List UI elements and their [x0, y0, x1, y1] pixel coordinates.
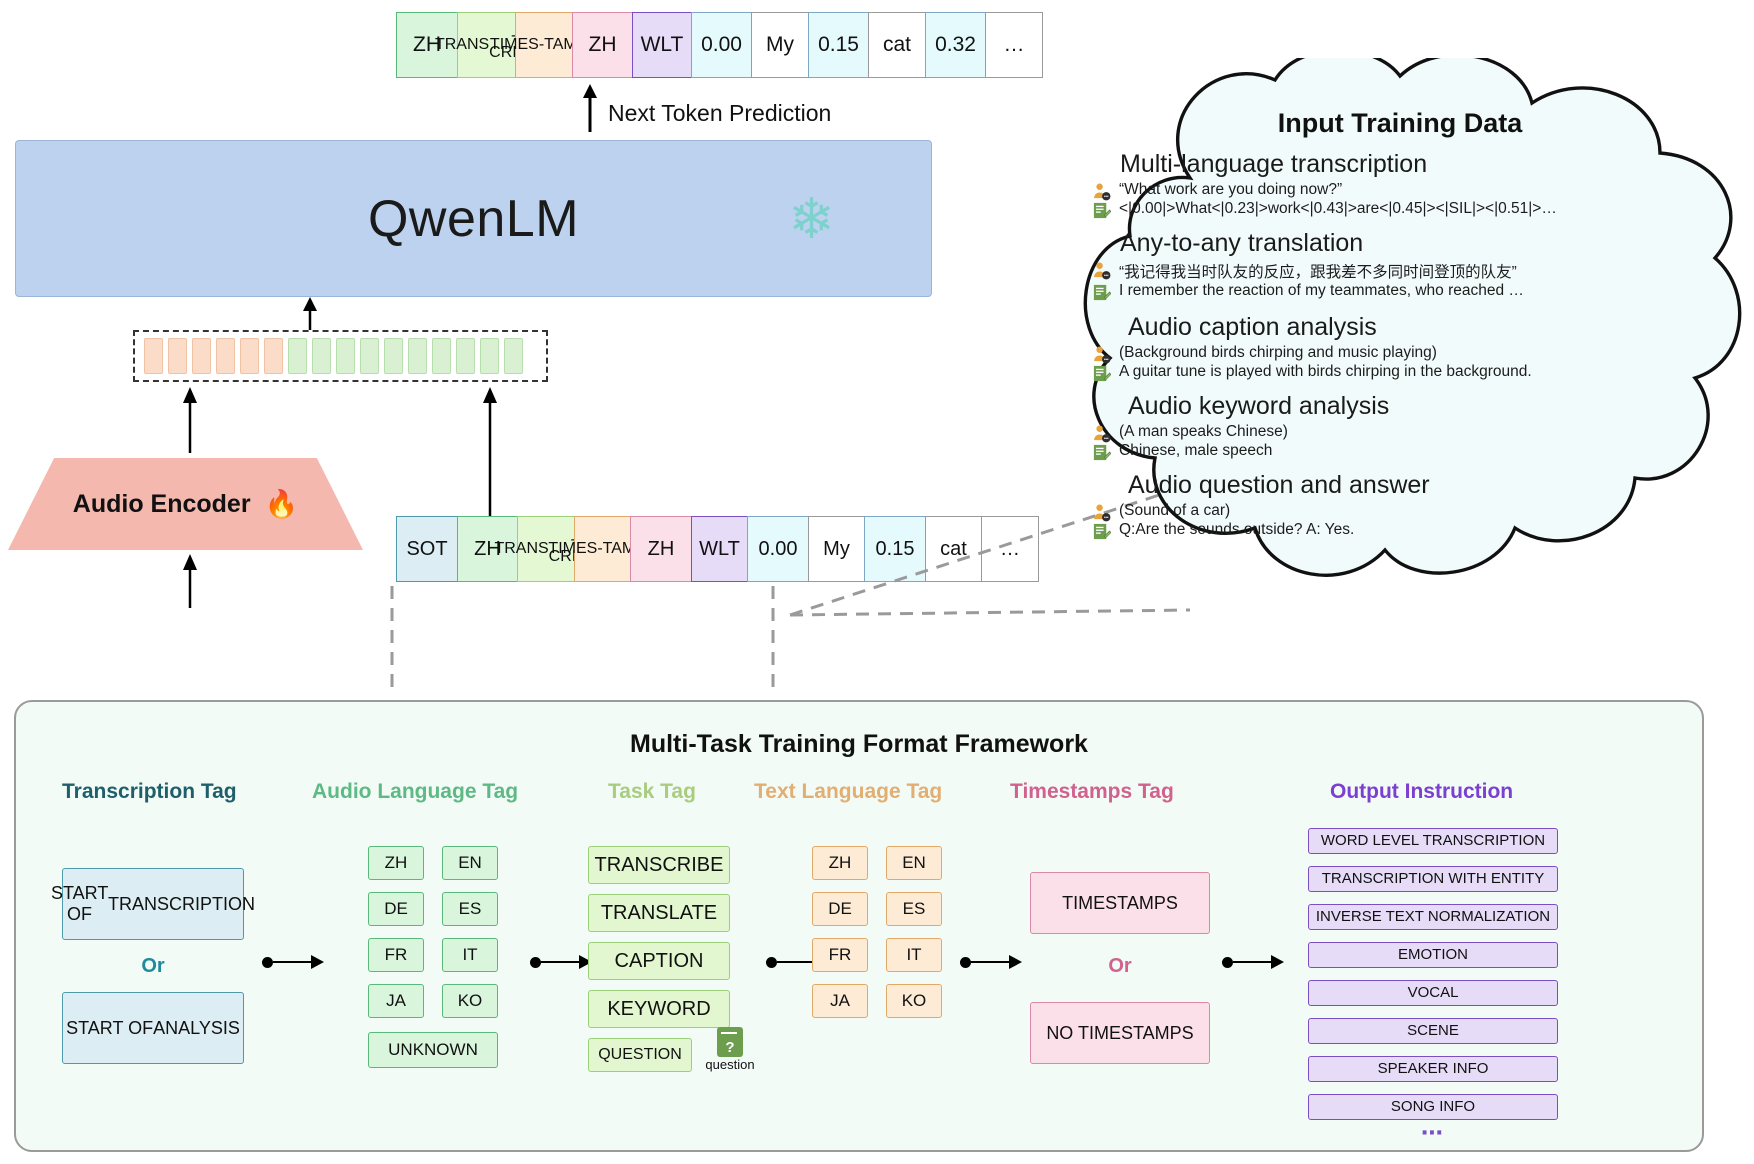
cloud-section: Multi-language transcription“What work a…: [1092, 150, 1652, 219]
note-pencil-icon: [1092, 364, 1111, 383]
note-pencil-icon: [1092, 522, 1111, 541]
cloud-section-output-text: A guitar tune is played with birds chirp…: [1119, 363, 1532, 381]
chip-audio-lang-fr[interactable]: FR: [368, 938, 424, 972]
cloud-section-output-text: I remember the reaction of my teammates,…: [1119, 282, 1524, 300]
chip-text-lang-ja[interactable]: JA: [812, 984, 868, 1018]
chip-start-of-transcription[interactable]: START OFTRANSCRIPTION: [62, 868, 244, 940]
audio-language-grid: ZHENDEESFRITJAKO: [368, 846, 498, 1018]
output-instruction-list: WORD LEVEL TRANSCRIPTIONTRANSCRIPTION WI…: [1308, 828, 1558, 1132]
cloud-section-output: A guitar tune is played with birds chirp…: [1092, 363, 1652, 382]
chip-audio-language-unknown[interactable]: UNKNOWN: [368, 1032, 498, 1068]
embedding-strip: [133, 330, 548, 382]
embedding-cell: [264, 338, 283, 374]
token-cell: SOT: [396, 516, 458, 582]
question-icon-group: question: [700, 1027, 760, 1072]
token-cell: 0.00: [691, 12, 753, 78]
cloud-section-input-text: “我记得我当时队友的反应，跟我差不多同时间登顶的队友”: [1119, 260, 1517, 282]
embedding-cell: [216, 338, 235, 374]
cloud-section-output: Chinese, male speech: [1092, 442, 1652, 461]
output-token-sequence: ZHTRANS-CRIBETIMES-TAMPSZHWLT0.00My0.15c…: [396, 12, 1043, 78]
timestamps-or-label: Or: [1030, 955, 1210, 978]
cloud-section: Any-to-any translation“我记得我当时队友的反应，跟我差不多…: [1092, 229, 1652, 301]
chip-text-lang-zh[interactable]: ZH: [812, 846, 868, 880]
embedding-cell: [384, 338, 403, 374]
user-speech-icon: [1092, 261, 1111, 280]
cloud-sections: Multi-language transcription“What work a…: [1092, 150, 1652, 550]
question-document-icon: [717, 1027, 743, 1057]
column-header-task-tag: Task Tag: [608, 780, 696, 804]
framework-leader-lines: [386, 580, 786, 700]
user-speech-icon: [1092, 345, 1111, 364]
transcription-or-label: Or: [62, 955, 244, 978]
cloud-section-input: (A man speaks Chinese): [1092, 423, 1652, 442]
token-cell: TIMES-TAMPS: [574, 516, 632, 582]
cloud-section-heading: Any-to-any translation: [1092, 229, 1652, 258]
cloud-section-input-text: (Background birds chirping and music pla…: [1119, 344, 1437, 362]
column-header-text-language-tag: Text Language Tag: [754, 780, 942, 804]
column-header-transcription-tag: Transcription Tag: [62, 780, 237, 804]
spectrogram-to-encoder-arrow: [175, 552, 205, 610]
qwenlm-box: QwenLM ❄: [15, 140, 932, 297]
embedding-cell: [432, 338, 451, 374]
cloud-title: Input Training Data: [1180, 108, 1620, 139]
chip-audio-lang-ja[interactable]: JA: [368, 984, 424, 1018]
audio-encoder-label: Audio Encoder: [73, 490, 251, 519]
note-pencil-icon: [1092, 283, 1111, 302]
chip-text-lang-fr[interactable]: FR: [812, 938, 868, 972]
chip-output-song-info[interactable]: SONG INFO: [1308, 1094, 1558, 1120]
embedding-cell: [288, 338, 307, 374]
token-cell: WLT: [632, 12, 692, 78]
cloud-section-output: <|0.00|>What<|0.23|>work<|0.43|>are<|0.4…: [1092, 200, 1652, 219]
chip-task-question[interactable]: QUESTION: [588, 1038, 692, 1072]
embedding-cell: [456, 338, 475, 374]
cloud-section-output-text: <|0.00|>What<|0.23|>work<|0.43|>are<|0.4…: [1119, 200, 1557, 218]
embedding-cell: [336, 338, 355, 374]
question-icon-caption: question: [700, 1057, 760, 1072]
embedding-cell: [480, 338, 499, 374]
cloud-section-heading: Audio question and answer: [1092, 471, 1652, 500]
audio-encoder: Audio Encoder 🔥: [8, 458, 363, 550]
cloud-section: Audio keyword analysis(A man speaks Chin…: [1092, 392, 1652, 461]
snowflake-icon: ❄: [788, 191, 835, 247]
chip-text-lang-en[interactable]: EN: [886, 846, 942, 880]
embedding-cell: [240, 338, 259, 374]
chip-audio-lang-de[interactable]: DE: [368, 892, 424, 926]
chip-audio-lang-en[interactable]: EN: [442, 846, 498, 880]
token-cell: 0.15: [808, 12, 870, 78]
embedding-cell: [312, 338, 331, 374]
cloud-section-input: (Sound of a car): [1092, 502, 1652, 521]
next-token-prediction-arrow: [570, 82, 610, 134]
token-cell: 0.32: [925, 12, 987, 78]
text-language-grid: ZHENDEESFRITJAKO: [812, 846, 942, 1018]
next-token-prediction-label: Next Token Prediction: [608, 100, 831, 127]
chip-no-timestamps[interactable]: NO TIMESTAMPS: [1030, 1002, 1210, 1064]
chip-task-transcribe[interactable]: TRANSCRIBE: [588, 846, 730, 884]
chip-audio-lang-zh[interactable]: ZH: [368, 846, 424, 880]
arrow-transcription-to-audio-language: [262, 955, 324, 969]
arrow-text-language-to-timestamps: [960, 955, 1022, 969]
note-pencil-icon: [1092, 443, 1111, 462]
arrow-audio-language-to-task: [530, 955, 592, 969]
chip-audio-lang-es[interactable]: ES: [442, 892, 498, 926]
chip-start-of-analysis[interactable]: START OFANALYSIS: [62, 992, 244, 1064]
cloud-section-input: (Background birds chirping and music pla…: [1092, 344, 1652, 363]
cloud-section-heading: Audio caption analysis: [1092, 313, 1652, 342]
tokens-to-embedding-arrow: [475, 385, 505, 520]
cloud-section-input: “我记得我当时队友的反应，跟我差不多同时间登顶的队友”: [1092, 260, 1652, 282]
chip-text-lang-ko[interactable]: KO: [886, 984, 942, 1018]
embedding-cell: [168, 338, 187, 374]
cloud-section-input-text: “What work are you doing now?”: [1119, 181, 1342, 199]
chip-output-word-level-transcription[interactable]: WORD LEVEL TRANSCRIPTION: [1308, 828, 1558, 854]
embedding-to-model-arrow: [295, 295, 325, 335]
cloud-section: Audio caption analysis(Background birds …: [1092, 313, 1652, 382]
chip-text-lang-it[interactable]: IT: [886, 938, 942, 972]
cloud-section-heading: Multi-language transcription: [1092, 150, 1652, 179]
embedding-cell: [360, 338, 379, 374]
note-pencil-icon: [1092, 201, 1111, 220]
token-cell: WLT: [691, 516, 749, 582]
chip-output-scene[interactable]: SCENE: [1308, 1018, 1558, 1044]
chip-output-emotion[interactable]: EMOTION: [1308, 942, 1558, 968]
user-speech-icon: [1092, 182, 1111, 201]
cloud-section-output-text: Chinese, male speech: [1119, 442, 1272, 460]
embedding-cell: [192, 338, 211, 374]
cloud-section-heading: Audio keyword analysis: [1092, 392, 1652, 421]
chip-timestamps[interactable]: TIMESTAMPS: [1030, 872, 1210, 934]
chip-task-translate[interactable]: TRANSLATE: [588, 894, 730, 932]
token-cell: ZH: [630, 516, 692, 582]
token-cell: ZH: [572, 12, 634, 78]
cloud-section-input-text: (Sound of a car): [1119, 502, 1230, 520]
cloud-section: Audio question and answer(Sound of a car…: [1092, 471, 1652, 540]
chip-audio-lang-ko[interactable]: KO: [442, 984, 498, 1018]
column-header-timestamps-tag: Timestamps Tag: [1010, 780, 1174, 804]
embedding-cell: [504, 338, 523, 374]
chip-output-transcription-with-entity[interactable]: TRANSCRIPTION WITH ENTITY: [1308, 866, 1558, 892]
embedding-cell: [408, 338, 427, 374]
chip-text-lang-es[interactable]: ES: [886, 892, 942, 926]
arrow-timestamps-to-output: [1222, 955, 1284, 969]
chip-audio-lang-it[interactable]: IT: [442, 938, 498, 972]
output-instruction-ellipsis: ⋯: [1308, 1120, 1558, 1146]
cloud-section-output: Q:Are the sounds outside? A: Yes.: [1092, 521, 1652, 540]
token-cell: TIMES-TAMPS: [515, 12, 573, 78]
chip-output-vocal[interactable]: VOCAL: [1308, 980, 1558, 1006]
encoder-to-embedding-arrow: [175, 385, 205, 455]
fire-icon: 🔥: [265, 488, 299, 520]
chip-output-speaker-info[interactable]: SPEAKER INFO: [1308, 1056, 1558, 1082]
user-speech-icon: [1092, 503, 1111, 522]
chip-task-caption[interactable]: CAPTION: [588, 942, 730, 980]
column-header-audio-language-tag: Audio Language Tag: [312, 780, 518, 804]
column-header-output-instruction: Output Instruction: [1330, 780, 1513, 804]
embedding-cell: [144, 338, 163, 374]
chip-text-lang-de[interactable]: DE: [812, 892, 868, 926]
token-cell: My: [751, 12, 809, 78]
chip-output-inverse-text-normalization[interactable]: INVERSE TEXT NORMALIZATION: [1308, 904, 1558, 930]
framework-title: Multi-Task Training Format Framework: [14, 730, 1704, 759]
cloud-section-input: “What work are you doing now?”: [1092, 181, 1652, 200]
qwenlm-label: QwenLM: [368, 189, 579, 249]
chip-task-keyword[interactable]: KEYWORD: [588, 990, 730, 1028]
cloud-section-output-text: Q:Are the sounds outside? A: Yes.: [1119, 521, 1354, 539]
cloud-section-output: I remember the reaction of my teammates,…: [1092, 282, 1652, 301]
user-speech-icon: [1092, 424, 1111, 443]
token-cell: cat: [868, 12, 926, 78]
cloud-section-input-text: (A man speaks Chinese): [1119, 423, 1288, 441]
